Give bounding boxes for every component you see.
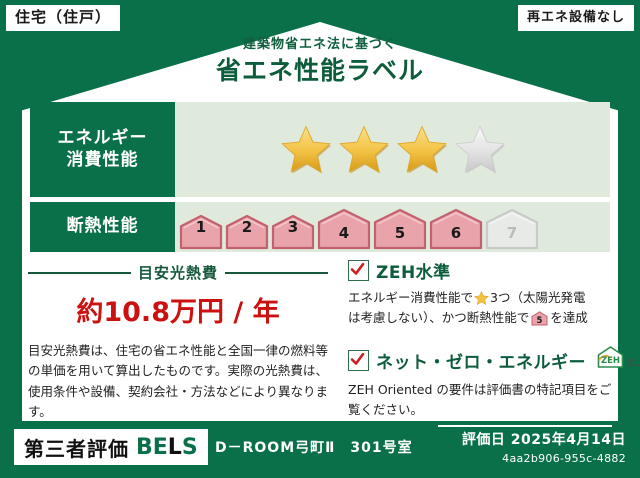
utility-cost-note: 目安光熱費は、住宅の省エネ性能と全国一律の燃料等の単価を用いて算出したものです。…: [28, 341, 328, 422]
insulation-level-number: 1: [179, 218, 223, 236]
bels-badge: 第三者評価 BELS: [14, 429, 208, 465]
insulation-level-active: 4: [317, 204, 371, 250]
evaluation-date-label: 評価日: [462, 432, 506, 448]
footer-bar: 第三者評価 BELS D－ROOM弓町Ⅱ 301号室 評価日 2025年4月14…: [0, 421, 640, 478]
bels-letters-green-1: BE: [136, 435, 168, 460]
zeh-standard-title: ZEH水準: [376, 258, 451, 283]
insulation-level-active: 3: [271, 204, 315, 250]
bels-jp-text: 第三者評価: [24, 433, 129, 462]
insulation-level-active: 2: [225, 204, 269, 250]
house-badge-icon: 5: [531, 311, 548, 326]
svg-text:Oriented: Oriented: [627, 363, 640, 368]
zeh-standard-heading: ZEH水準: [348, 258, 616, 283]
insulation-performance-row: 断熱性能 1234567: [30, 202, 610, 252]
insulation-level-number: 6: [429, 224, 483, 242]
star-rating: [175, 102, 610, 197]
zeh-desc-part1: エネルギー消費性能で: [348, 290, 473, 305]
insulation-level-number: 5: [373, 224, 427, 242]
insulation-level-active: 6: [429, 204, 483, 250]
star-empty-icon: [454, 125, 506, 175]
utility-cost-heading: 目安光熱費: [28, 262, 328, 283]
inline-level-badge: 5: [531, 314, 548, 329]
utility-cost-block: 目安光熱費 約10.8万円 / 年 目安光熱費は、住宅の省エネ性能と全国一律の燃…: [28, 262, 328, 422]
star-filled-icon: [396, 125, 448, 175]
zeh-block: ZEH水準 エネルギー消費性能で3つ（太陽光発電 は考慮しない）、かつ断熱性能で…: [348, 258, 616, 420]
star-filled-icon: [280, 125, 332, 175]
property-name: D－ROOM弓町Ⅱ 301号室: [215, 437, 413, 457]
insulation-level-number: 3: [271, 218, 315, 236]
certificate-number: 4aa2b906-955c-4882: [462, 452, 626, 465]
zeh-desc-star-count: 3つ（太陽光発電: [490, 290, 585, 305]
heading-rule-right: [225, 272, 328, 274]
zeh-desc-part2: は考慮しない）、かつ断熱性能で: [348, 310, 529, 325]
zeh-standard-description: エネルギー消費性能で3つ（太陽光発電 は考慮しない）、かつ断熱性能で5を達成: [348, 288, 616, 332]
bels-en-text: BELS: [136, 435, 198, 460]
insulation-level-number: 7: [485, 224, 539, 242]
net-zero-energy-title: ネット・ゼロ・エネルギー: [376, 348, 586, 373]
insulation-label-text: 断熱性能: [67, 216, 139, 237]
svg-text:ZEH: ZEH: [601, 356, 620, 366]
energy-label-line1: エネルギー: [58, 128, 148, 149]
bels-energy-label: 住宅（住戸） 再エネ設備なし 建築物省エネ法に基づく 省エネ性能ラベル エネルギ…: [0, 0, 640, 478]
ratings-panel: エネルギー 消費性能 断熱性能 1234567: [30, 102, 610, 259]
check-icon: [350, 352, 365, 367]
inline-star-icon: [474, 291, 489, 305]
evaluation-date-value: 2025年4月14日: [511, 432, 626, 448]
renewable-energy-tag: 再エネ設備なし: [518, 5, 634, 31]
zeh-house-logo-icon: ZEH ZEh Oriented: [596, 345, 640, 371]
building-type-tag: 住宅（住戸）: [6, 5, 120, 31]
net-zero-energy-checkbox: [348, 350, 369, 371]
insulation-level-number: 2: [225, 218, 269, 236]
heading-rule-left: [28, 272, 131, 274]
bels-letters-green-2: S: [182, 435, 198, 460]
star-filled-icon: [338, 125, 390, 175]
zeh-standard-checkbox: [348, 260, 369, 281]
zeh-desc-part3: を達成: [550, 310, 588, 325]
evaluation-info: 評価日 2025年4月14日 4aa2b906-955c-4882: [462, 429, 626, 465]
insulation-level-number: 4: [317, 224, 371, 242]
zeh-oriented-logo: ZEH ZEh Oriented: [596, 345, 640, 375]
insulation-performance-label: 断熱性能: [30, 202, 175, 252]
utility-cost-heading-text: 目安光熱費: [138, 262, 218, 283]
net-zero-energy-description: ZEH Oriented の要件は評価書の特記項目をご覧ください。: [348, 380, 616, 420]
insulation-level-active: 1: [179, 204, 223, 250]
date-divider: [438, 425, 612, 427]
check-icon: [350, 262, 365, 277]
energy-performance-label: エネルギー 消費性能: [30, 102, 175, 197]
utility-cost-value: 約10.8万円 / 年: [28, 290, 328, 329]
energy-label-line2: 消費性能: [67, 150, 139, 171]
energy-performance-row: エネルギー 消費性能: [30, 102, 610, 197]
bels-letters-black: L: [168, 435, 182, 460]
insulation-level-scale: 1234567: [175, 202, 610, 252]
insulation-level-active: 5: [373, 204, 427, 250]
house-badge-number: 5: [537, 316, 543, 326]
net-zero-energy-heading: ネット・ゼロ・エネルギー ZEH ZEh Oriented: [348, 345, 616, 375]
insulation-level-inactive: 7: [485, 204, 539, 250]
evaluation-date: 評価日 2025年4月14日: [462, 429, 626, 449]
